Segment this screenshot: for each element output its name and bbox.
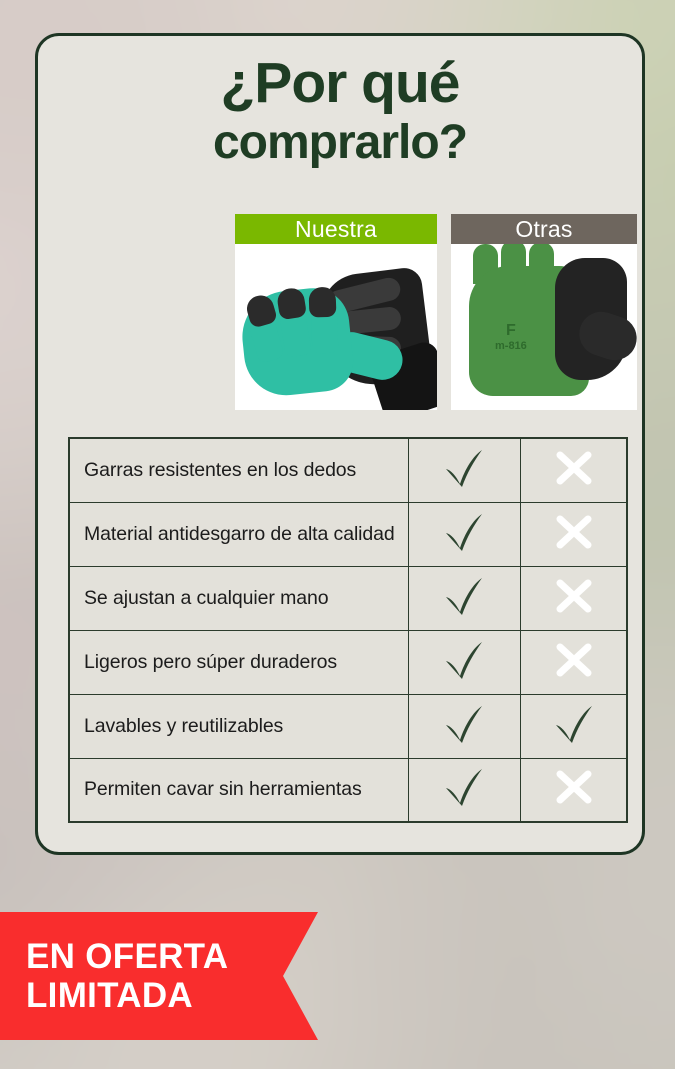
ours-mark-cell (408, 566, 520, 630)
theirs-mark-cell (521, 694, 627, 758)
feature-label: Material antidesgarro de alta calidad (69, 502, 408, 566)
feature-label: Lavables y reutilizables (69, 694, 408, 758)
check-icon (441, 511, 487, 553)
table-row: Material antidesgarro de alta calidad (69, 502, 627, 566)
limited-offer-ribbon: EN OFERTA LIMITADA (0, 912, 318, 1040)
panel-theirs: Otras F m-816 (451, 214, 637, 410)
table-row: Lavables y reutilizables (69, 694, 627, 758)
check-icon (441, 575, 487, 617)
page-title: ¿Por qué comprarlo? (38, 56, 642, 166)
ours-mark-cell (408, 630, 520, 694)
product-image-comparison: Nuestra (235, 214, 637, 410)
ours-mark-cell (408, 502, 520, 566)
table-row: Ligeros pero súper duraderos (69, 630, 627, 694)
check-icon (441, 766, 487, 808)
promo-graphic: ¿Por qué comprarlo? Nuestra (0, 0, 675, 1069)
ours-mark-cell (408, 758, 520, 822)
brand-mark: F (495, 322, 527, 340)
check-icon (441, 639, 487, 681)
cross-icon (552, 640, 596, 680)
panel-ours-label: Nuestra (235, 214, 437, 244)
page-title-line-2: comprarlo? (38, 119, 642, 166)
feature-label: Ligeros pero súper duraderos (69, 630, 408, 694)
feature-label: Permiten cavar sin herramientas (69, 758, 408, 822)
comparison-card: ¿Por qué comprarlo? Nuestra (35, 33, 645, 855)
cross-icon (552, 576, 596, 616)
table-body: Garras resistentes en los dedos Material… (69, 438, 627, 822)
feature-label: Garras resistentes en los dedos (69, 438, 408, 502)
theirs-mark-cell (521, 630, 627, 694)
table-row: Permiten cavar sin herramientas (69, 758, 627, 822)
theirs-mark-cell (521, 502, 627, 566)
feature-label: Se ajustan a cualquier mano (69, 566, 408, 630)
cross-icon (552, 448, 596, 488)
check-icon (441, 703, 487, 745)
check-icon (441, 447, 487, 489)
panel-theirs-image: F m-816 (451, 244, 637, 410)
theirs-mark-cell (521, 758, 627, 822)
ribbon-line-2: LIMITADA (26, 976, 318, 1015)
panel-ours-image (235, 244, 437, 410)
panel-theirs-label: Otras (451, 214, 637, 244)
brand-code: m-816 (495, 340, 527, 352)
panel-ours: Nuestra (235, 214, 437, 410)
page-title-line-1: ¿Por qué (38, 56, 642, 112)
ribbon-line-1: EN OFERTA (26, 937, 318, 976)
cross-icon (552, 767, 596, 807)
theirs-mark-cell (521, 566, 627, 630)
table-row: Garras resistentes en los dedos (69, 438, 627, 502)
ours-mark-cell (408, 694, 520, 758)
cross-icon (552, 512, 596, 552)
check-icon (551, 703, 597, 745)
feature-comparison-table: Garras resistentes en los dedos Material… (68, 437, 628, 823)
theirs-mark-cell (521, 438, 627, 502)
competitor-brand-logo: F m-816 (495, 322, 527, 353)
table-row: Se ajustan a cualquier mano (69, 566, 627, 630)
ours-mark-cell (408, 438, 520, 502)
